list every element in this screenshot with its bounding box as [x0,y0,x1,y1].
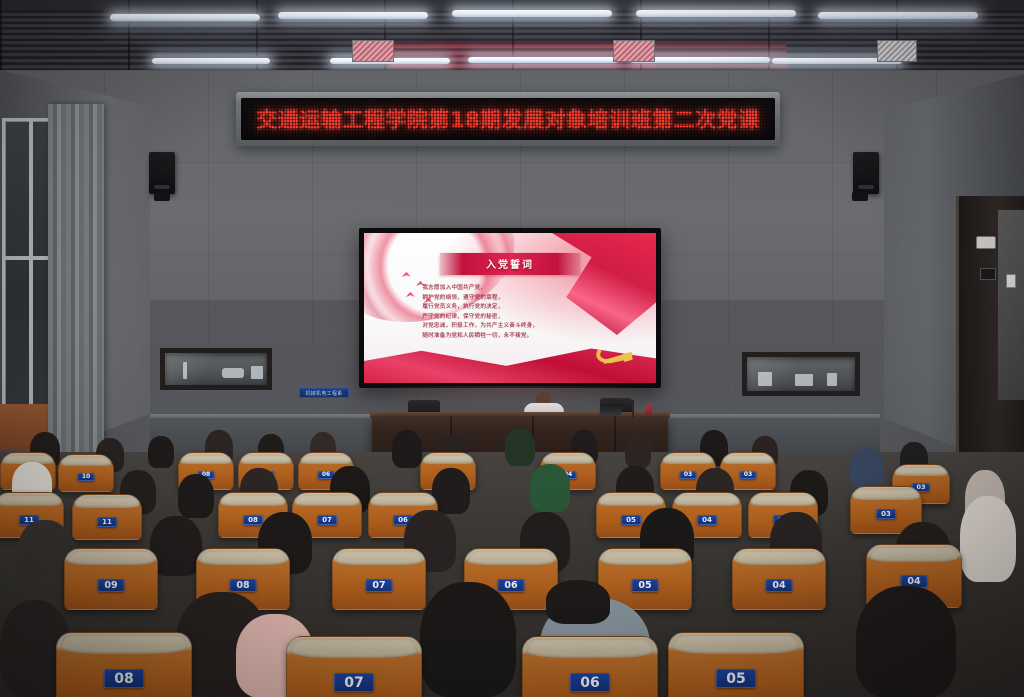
seat-number: 06 [504,581,517,591]
seat-rim [675,496,739,506]
microphone [632,400,634,418]
seat-number: 03 [684,472,692,478]
audience-member [625,434,651,468]
ceiling-light [110,14,260,21]
slide-title-band: 入党誓词 [440,253,580,276]
seat-rim [853,490,919,500]
seat-number-plate: 06 [498,579,525,592]
seat-number: 07 [344,676,363,690]
ceiling-vent [613,40,655,62]
slide-line: 严守党的纪律，保守党的秘密， [422,313,609,323]
seat[interactable]: 09 [64,548,158,610]
seat-rim [336,552,423,565]
seat-rim [527,640,653,658]
seat[interactable]: 06 [522,636,658,697]
seat-rim [602,552,689,565]
audience-member [856,586,956,697]
slide-line: 履行党员义务，执行党的决定， [422,303,609,313]
seat-number-plate: 03 [876,509,896,519]
seat[interactable]: 05 [668,632,804,697]
projection-screen: 入党誓词 我志愿加入中国共产党， 拥护党的纲领，遵守党的章程， 履行党员义务，执… [359,228,661,388]
led-screen: 交通运输工程学院第18期发展对象培训班第二次党课 [241,98,775,140]
seat-number-plate: 04 [697,515,717,525]
room-sign: 机械机电工程系 [299,388,349,398]
seat-number: 06 [322,472,330,478]
seat-number-plate: 06 [570,673,610,692]
seat-number: 03 [881,511,891,518]
seat-rim [543,456,594,464]
seat-number: 05 [626,517,636,524]
seat[interactable]: 07 [286,636,422,697]
seat-rim [61,636,187,654]
ceiling-light [468,57,618,63]
seat-number: 07 [322,517,332,524]
seat-number: 03 [916,484,925,491]
seat-number: 05 [726,672,745,686]
seat-rim [673,636,799,654]
seat[interactable]: 10 [58,454,114,492]
hammer-and-sickle-icon [596,339,636,365]
slide-line: 对党忠诚，积极工作，为共产主义奋斗终身， [422,322,609,332]
seat-rim [291,640,417,658]
display-niche-left [160,348,272,390]
seat-number-plate: 03 [680,471,697,479]
seat[interactable]: 04 [732,548,826,610]
audience-member [530,464,570,512]
audience-member [392,430,422,468]
slide-line: 拥护党的纲领，遵守党的章程， [422,294,609,304]
seat-number: 10 [82,474,90,480]
seat-number: 09 [104,581,117,591]
ceiling-light [818,12,978,19]
audience-member [148,436,174,468]
slide-line: 我志愿加入中国共产党， [422,284,609,294]
seat-rim [371,496,435,506]
seat-number: 06 [580,676,599,690]
seat-rim [663,456,714,464]
led-banner: 交通运输工程学院第18期发展对象培训班第二次党课 [236,92,780,146]
seat-number-plate: 05 [632,579,659,592]
speaker-bracket [154,192,170,201]
seat-rim [468,552,555,565]
presentation-slide: 入党誓词 我志愿加入中国共产党， 拥护党的纲领，遵守党的章程， 履行党员义务，执… [364,233,656,383]
hammer-head [622,352,633,362]
audience-member [960,496,1016,582]
slide-title: 入党誓词 [486,256,534,271]
seat-number-plate: 05 [716,669,756,688]
door-panel [998,210,1024,400]
seat-rim [599,496,663,506]
seat-rim [736,552,823,565]
seat-rim [423,456,474,464]
audience-member [505,428,535,466]
speaker-bracket [852,192,868,201]
seat-number-plate: 08 [230,579,257,592]
ceiling-light [278,12,428,19]
laptop [599,404,622,416]
led-banner-text: 交通运输工程学院第18期发展对象培训班第二次党课 [256,104,759,134]
security-camera-icon [976,236,996,249]
seat-number: 03 [744,472,752,478]
audience-member [546,580,610,624]
ceiling-light [452,10,612,17]
lecture-hall-photo: 交通运输工程学院第18期发展对象培训班第二次党课 入党誓词 我志愿加入中国共产党… [0,0,1024,697]
seat-number-plate: 08 [104,669,144,688]
ceiling-light [636,10,796,17]
seat-rim [870,548,958,562]
seat-number-plate: 07 [366,579,393,592]
seat-number: 04 [907,577,920,587]
seat-number-plate: 07 [334,673,374,692]
seat-rim [75,498,139,508]
seat-number-plate: 11 [97,517,117,527]
seat-rim [200,552,287,565]
seat-number: 11 [102,519,112,526]
display-niche-right [742,352,860,396]
seat-number: 04 [772,581,785,591]
seat-number: 08 [248,517,258,524]
seat-rim [723,456,774,464]
seat-rim [301,456,352,464]
slide-line: 随时准备为党和人民牺牲一切，永不叛党。 [422,332,609,342]
seat[interactable]: 11 [72,494,142,540]
seat-number-plate: 03 [740,471,757,479]
ceiling-vent [877,40,917,62]
seat-rim [751,496,815,506]
wall-speaker [853,152,879,194]
ceiling-light [152,58,270,64]
seat[interactable]: 07 [332,548,426,610]
ceiling-vent [352,40,394,62]
seat-number: 08 [114,672,133,686]
seat-rim [0,496,61,506]
room-sign-text: 机械机电工程系 [305,390,342,397]
seat-number: 04 [702,517,712,524]
seat-number-plate: 09 [98,579,125,592]
seat-rim [895,468,948,476]
seat-rim [68,552,155,565]
seat-number: 07 [372,581,385,591]
slide-body: 我志愿加入中国共产党， 拥护党的纲领，遵守党的章程， 履行党员义务，执行党的决定… [422,284,609,342]
seat[interactable]: 08 [56,632,192,697]
seat-number-plate: 04 [766,579,793,592]
seat-rim [181,456,232,464]
curtain [48,104,104,464]
seat-number: 06 [398,517,408,524]
niche-glass [165,353,267,385]
seat-rim [221,496,285,506]
seat-rim [241,456,292,464]
seat-number-plate: 07 [317,515,337,525]
audience-member [178,474,214,518]
audience-member [850,448,884,488]
light-switch[interactable] [1006,274,1016,288]
seat-rim [295,496,359,506]
wall-control-panel[interactable] [980,268,996,280]
seat-rim [61,458,112,466]
seat-number: 05 [638,581,651,591]
cup [646,404,652,415]
seat-number-plate: 10 [78,473,95,481]
seat-number-plate: 08 [243,515,263,525]
audience-member [420,582,516,697]
wall-speaker [149,152,175,194]
seat-number: 08 [236,581,249,591]
seat-number-plate: 05 [621,515,641,525]
niche-glass [747,357,855,391]
